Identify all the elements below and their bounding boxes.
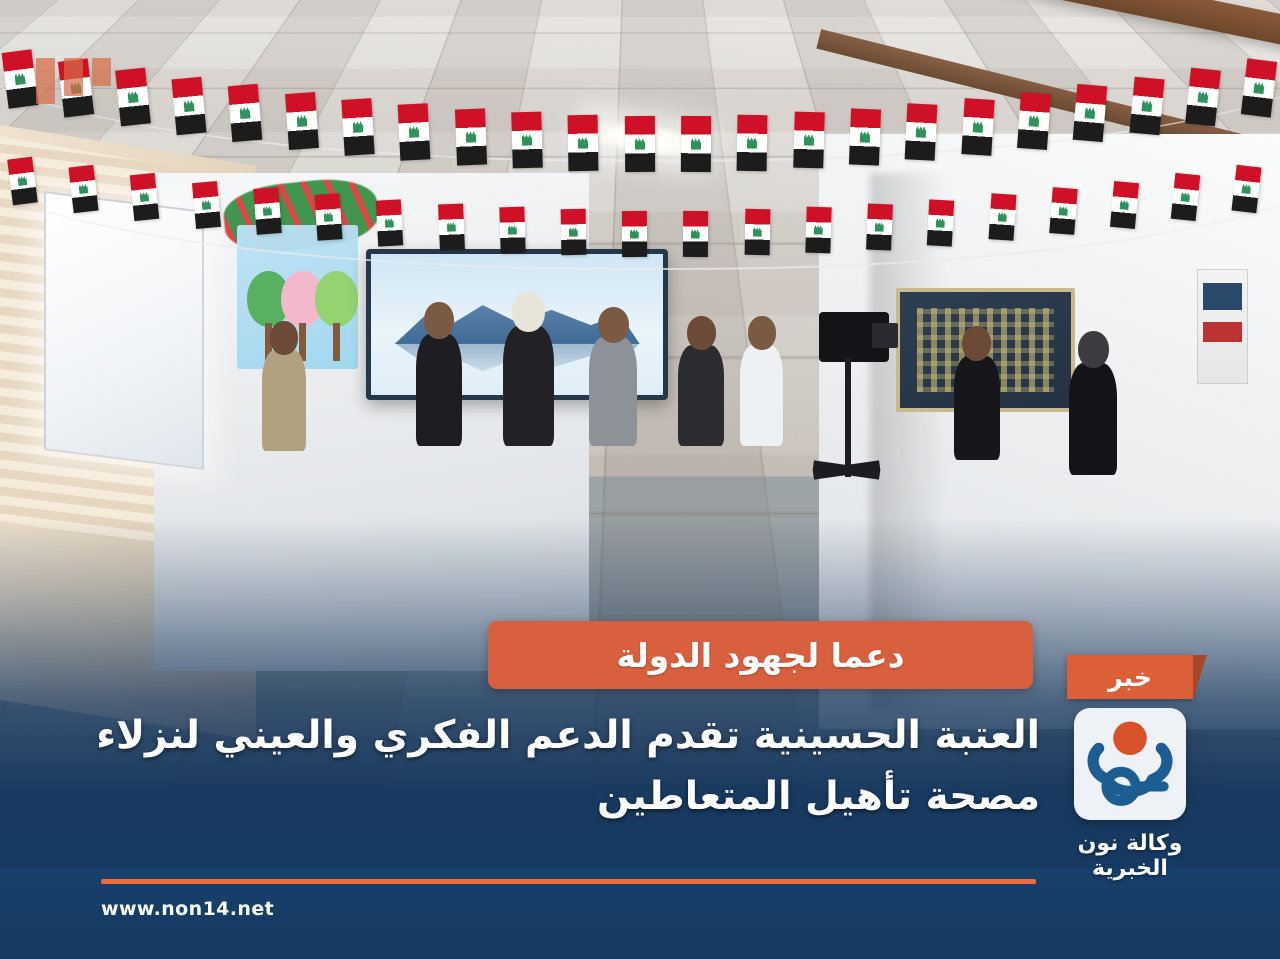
iraqi-flag <box>622 210 647 256</box>
kicker-badge: دعما لجهود الدولة <box>488 621 1033 689</box>
iraqi-flag <box>683 210 708 256</box>
iraqi-flag <box>1049 187 1077 235</box>
iraqi-flag <box>1073 84 1108 142</box>
iraqi-flag <box>253 187 281 235</box>
footer-divider <box>101 879 1036 884</box>
watermark-bar-3 <box>92 58 111 86</box>
flag-bunting-row-2 <box>0 150 1280 270</box>
iraqi-flag <box>285 92 319 150</box>
standing-person-cameraman <box>954 326 1000 460</box>
iraqi-flag <box>115 68 151 127</box>
news-tab-label: خبر <box>1108 663 1152 692</box>
iraqi-flag <box>805 207 831 254</box>
watermark-bar-1 <box>36 58 55 104</box>
iraqi-flag <box>499 207 525 254</box>
agency-name: وكالة نون الخبرية <box>1040 831 1220 881</box>
iraqi-flag <box>376 199 403 246</box>
iraqi-flag <box>341 98 374 156</box>
iraqi-flag <box>1185 68 1221 127</box>
flag-bunting-row-1 <box>0 42 1280 162</box>
standing-person-officer <box>262 321 306 450</box>
iraqi-flag <box>228 84 263 142</box>
iraqi-flag <box>130 173 159 221</box>
website-url: www.non14.net <box>101 898 274 920</box>
standing-person-cleric-black-turban <box>416 302 462 446</box>
iraqi-flag <box>1110 180 1139 228</box>
three-bars-watermark <box>36 58 111 104</box>
iraqi-flag <box>438 203 465 250</box>
iraqi-flag <box>1171 173 1200 221</box>
iraqi-flag <box>744 209 769 255</box>
standing-person-man-black-cap <box>1069 331 1118 475</box>
iraqi-flag <box>1129 76 1164 135</box>
iraqi-flag <box>961 98 994 156</box>
iraqi-flag <box>866 203 893 250</box>
iraqi-flag <box>1241 59 1277 118</box>
iraqi-flag <box>988 194 1016 241</box>
news-card: دعما لجهود الدولة العتبة الحسينية تقدم ا… <box>0 0 1280 959</box>
iraqi-flag <box>192 180 221 228</box>
video-camera-tripod <box>787 312 902 504</box>
noon-agency-logo-icon <box>1074 708 1186 820</box>
standing-person-attendee-dark <box>678 316 724 445</box>
news-tab-badge: خبر <box>1067 655 1193 699</box>
brand-block: خبر وكالة نون الخبرية <box>1040 655 1220 881</box>
standing-person-official-grey-jacket <box>589 307 638 446</box>
standing-person-cleric-white-turban <box>503 292 554 445</box>
watermark-bar-2 <box>64 58 83 96</box>
iraqi-flag <box>927 199 954 246</box>
iraqi-flag <box>171 76 206 135</box>
iraqi-flag <box>1017 92 1051 150</box>
standing-person-attendee-white-shirt <box>740 316 784 445</box>
kicker-label: دعما لجهود الدولة <box>616 636 904 675</box>
headline: العتبة الحسينية تقدم الدعم الفكري والعين… <box>90 706 1040 828</box>
iraqi-flag <box>315 194 343 241</box>
wall-poster <box>1197 269 1248 384</box>
iraqi-flag <box>561 209 586 255</box>
